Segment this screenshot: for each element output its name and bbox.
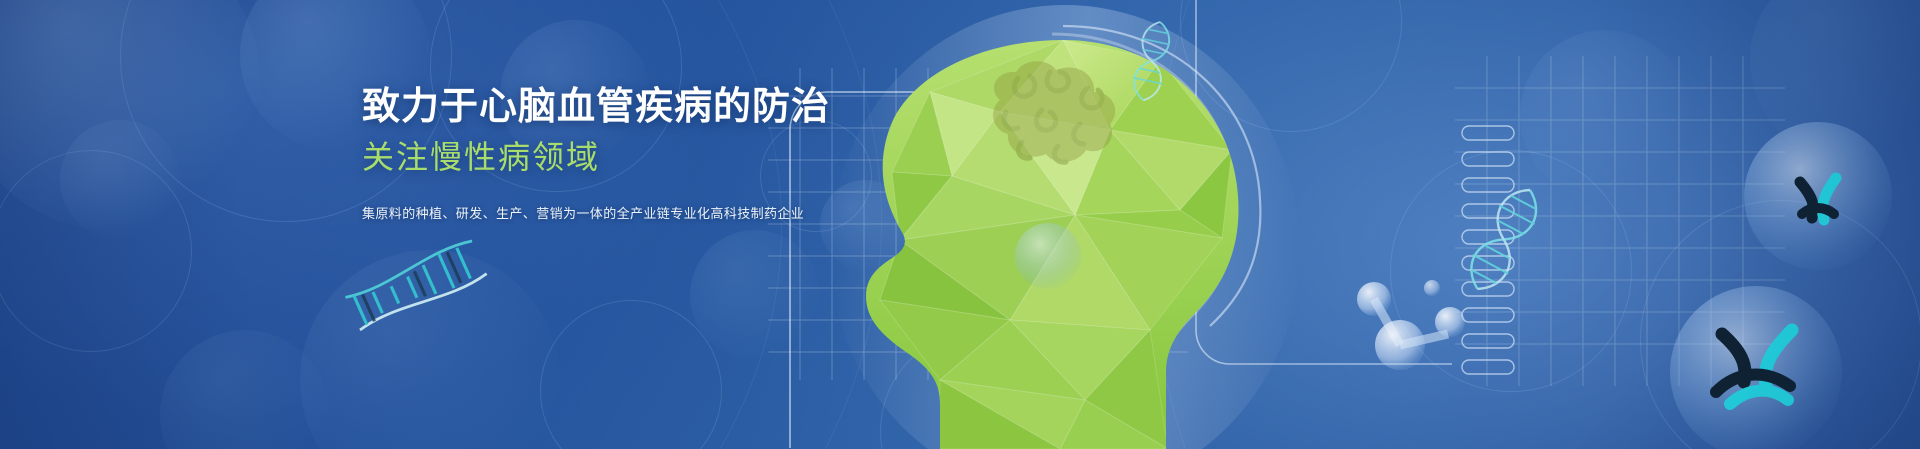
left-hud-bars xyxy=(932,152,1005,267)
chromosome-icon xyxy=(1716,330,1792,404)
vignette-overlay xyxy=(0,0,1920,449)
right-hud-panel xyxy=(1196,0,1785,386)
molecule-icon xyxy=(1357,280,1465,370)
head-silhouette-glow xyxy=(1052,34,1236,449)
hero-banner: 致力于心脑血管疾病的防治 关注慢性病领域 集原料的种植、研发、生产、营销为一体的… xyxy=(0,0,1920,449)
head-glow xyxy=(830,5,1300,449)
head-outline-arc xyxy=(1063,26,1260,326)
headline-accent: 心脑血管疾病 xyxy=(479,86,713,128)
hud-illustration xyxy=(0,0,1920,449)
banner-tagline: 集原料的种植、研发、生产、营销为一体的全产业链专业化高科技制药企业 xyxy=(362,203,782,222)
banner-copy: 致力于心脑血管疾病的防治 关注慢性病领域 集原料的种植、研发、生产、营销为一体的… xyxy=(362,86,782,222)
left-hud-panel xyxy=(768,68,1188,448)
right-hud-bars xyxy=(1462,126,1514,374)
cell-circle xyxy=(1744,122,1892,270)
banner-headline: 致力于心脑血管疾病的防治 xyxy=(362,86,782,129)
cell-circle xyxy=(1015,223,1081,289)
dna-helix-icon xyxy=(1460,181,1548,299)
cell-circle xyxy=(1670,286,1842,449)
dna-helix-icon xyxy=(344,238,488,333)
headline-suffix: 的防治 xyxy=(713,86,830,128)
chromosome-icon xyxy=(1800,178,1836,220)
dna-helix-icon xyxy=(1129,19,1174,103)
low-poly-human-head xyxy=(860,30,1250,449)
banner-subline: 关注慢性病领域 xyxy=(362,139,782,176)
headline-prefix: 致力于 xyxy=(362,86,479,128)
brain-overlay xyxy=(993,61,1115,162)
